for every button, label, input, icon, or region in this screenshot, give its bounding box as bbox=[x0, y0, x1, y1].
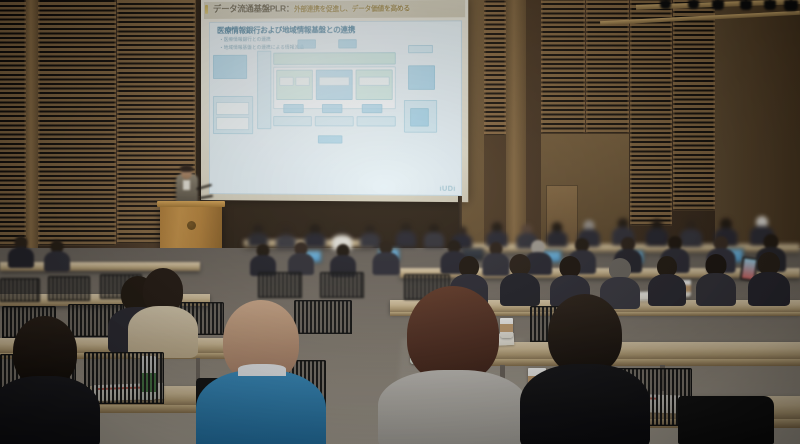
slide-title: データ流通基盤PLR：外部連携を促進し、データ価値を高める bbox=[213, 1, 464, 15]
diagram-bottom-center bbox=[318, 135, 342, 143]
chair[interactable] bbox=[320, 272, 364, 298]
wall-louvre-panel-right-5 bbox=[673, 0, 715, 211]
attendee bbox=[8, 236, 34, 266]
attendee bbox=[748, 252, 790, 304]
diagram-sub-2 bbox=[296, 77, 310, 86]
attendee bbox=[44, 240, 70, 270]
podium-top bbox=[157, 201, 225, 207]
diagram-box-left-inner-1 bbox=[216, 102, 249, 115]
diagram-sub-4 bbox=[359, 77, 390, 86]
wall-column-right-1 bbox=[506, 0, 526, 248]
draped-jacket bbox=[678, 396, 774, 444]
attendee-left-foreground bbox=[0, 316, 100, 444]
chair[interactable] bbox=[48, 276, 90, 301]
diagram-box-right-icon bbox=[410, 108, 429, 126]
spotlight-icon bbox=[740, 0, 752, 10]
diagram-node-1 bbox=[283, 104, 303, 113]
wall-louvre-panel-left-2 bbox=[38, 0, 116, 246]
slide-body: 医療情報銀行および地域情報基盤との連携 ・医療情報銀行との連携 ・地域情報基盤と… bbox=[209, 20, 462, 196]
diagram-footer-3 bbox=[357, 116, 396, 126]
chair[interactable] bbox=[258, 272, 302, 298]
attendee bbox=[396, 223, 416, 246]
slide-title-sub: 外部連携を促進し、データ価値を高める bbox=[294, 5, 410, 13]
attendee bbox=[330, 244, 356, 275]
attendee bbox=[248, 224, 268, 246]
diagram-column-center bbox=[257, 51, 271, 129]
diagram-footer-1 bbox=[273, 116, 312, 126]
diagram-sub-3 bbox=[319, 77, 350, 86]
slide-bullet-1: ・医療情報銀行との連携 bbox=[219, 37, 271, 43]
slide-title-bullet-icon bbox=[205, 5, 208, 14]
attendee-right-foreground bbox=[520, 294, 650, 444]
spotlight-icon bbox=[784, 0, 798, 11]
diagram-footer-2 bbox=[315, 116, 354, 126]
diagram-band-top bbox=[273, 52, 395, 65]
wall-louvre-panel-right-2 bbox=[541, 0, 585, 134]
wall-column-left bbox=[26, 0, 38, 248]
collar bbox=[238, 364, 286, 376]
diagram-box-cloud-right bbox=[408, 65, 435, 89]
diagram-sub-1 bbox=[279, 77, 293, 86]
wall-louvre-panel-right-1 bbox=[484, 0, 506, 136]
spotlight-icon bbox=[660, 0, 671, 9]
attendee-cream-jacket bbox=[128, 268, 198, 354]
slide-logo: iUDi bbox=[440, 186, 456, 193]
attendee-grey-sweater bbox=[378, 286, 528, 444]
diagram-node-2 bbox=[322, 104, 342, 113]
chair[interactable] bbox=[0, 278, 40, 302]
speaker-hair bbox=[180, 165, 193, 172]
slide-heading: 医療情報銀行および地域情報基盤との連携 bbox=[217, 24, 355, 36]
diagram-node-3 bbox=[362, 104, 383, 113]
attendee bbox=[372, 241, 399, 273]
attendee bbox=[250, 244, 276, 274]
projection-screen: データ流通基盤PLR：外部連携を促進し、データ価値を高める 医療情報銀行および地… bbox=[201, 0, 468, 202]
attendee bbox=[696, 254, 736, 304]
spotlight-icon bbox=[712, 0, 724, 10]
wall-louvre-panel-left-1 bbox=[0, 0, 26, 246]
wall-right-far bbox=[715, 0, 800, 248]
attendee bbox=[288, 242, 314, 273]
speaker-shirt bbox=[183, 180, 190, 190]
diagram-box-left-inner-2 bbox=[216, 117, 249, 130]
diagram-box-person-left bbox=[213, 55, 247, 79]
diagram-tag-topright bbox=[408, 45, 433, 53]
wall-louvre-panel-right-4 bbox=[630, 0, 672, 226]
conference-photo: データ流通基盤PLR：外部連携を促進し、データ価値を高める 医療情報銀行および地… bbox=[0, 0, 800, 444]
diagram-actor-top-2 bbox=[338, 39, 356, 48]
spotlight-icon bbox=[764, 0, 776, 10]
attendee bbox=[648, 256, 686, 304]
podium-crest-icon bbox=[187, 221, 196, 230]
slide-title-main: データ流通基盤PLR bbox=[213, 3, 286, 14]
spotlight-icon bbox=[688, 0, 699, 9]
diagram-actor-top-1 bbox=[298, 39, 316, 48]
